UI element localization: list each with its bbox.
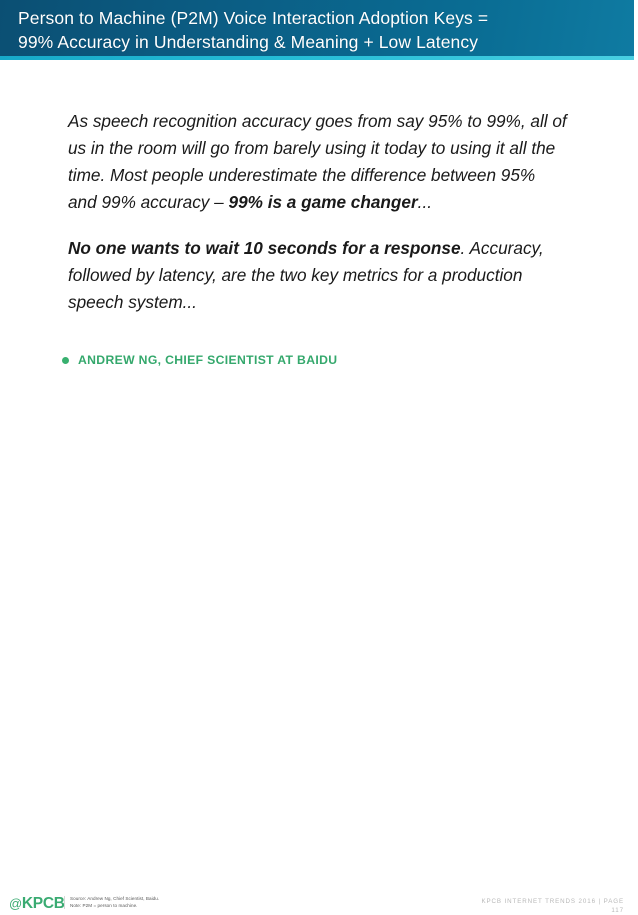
quote-paragraph-1-ellipsis: ... [418,192,432,212]
quote-paragraph-2-emphasis: No one wants to wait 10 seconds for a re… [68,238,461,258]
kpcb-logo-text: KPCB [22,895,65,912]
slide-root: Person to Machine (P2M) Voice Interactio… [0,0,638,479]
kpcb-logo: @KPCB [9,895,65,913]
footer-deck-info: KPCB INTERNET TRENDS 2016 | PAGE 117 [481,897,624,915]
slide-title-bar: Person to Machine (P2M) Voice Interactio… [0,0,634,56]
bullet-dot-icon [62,357,69,364]
quote-block: As speech recognition accuracy goes from… [68,108,568,316]
quote-paragraph-1: As speech recognition accuracy goes from… [68,108,568,216]
footnote-source: Source: Andrew Ng, Chief Scientist, Baid… [70,896,159,903]
footer-deck-label: KPCB INTERNET TRENDS 2016 | PAGE [481,897,624,906]
footnote-definition: Note: P2M = person to machine. [70,903,159,910]
quote-attribution: ANDREW NG, CHIEF SCIENTIST AT BAIDU [62,353,337,367]
footer-page-number: 117 [481,906,624,915]
attribution-label: ANDREW NG, CHIEF SCIENTIST AT BAIDU [78,353,337,367]
at-symbol-icon: @ [9,896,22,911]
slide-footer: @KPCB Source: Andrew Ng, Chief Scientist… [0,444,634,479]
quote-paragraph-1-emphasis: 99% is a game changer [229,192,418,212]
quote-paragraph-2: No one wants to wait 10 seconds for a re… [68,235,568,316]
title-bar-accent-strip [0,56,634,60]
page-title: Person to Machine (P2M) Voice Interactio… [18,6,620,54]
footnote-group: Source: Andrew Ng, Chief Scientist, Baid… [64,896,159,909]
